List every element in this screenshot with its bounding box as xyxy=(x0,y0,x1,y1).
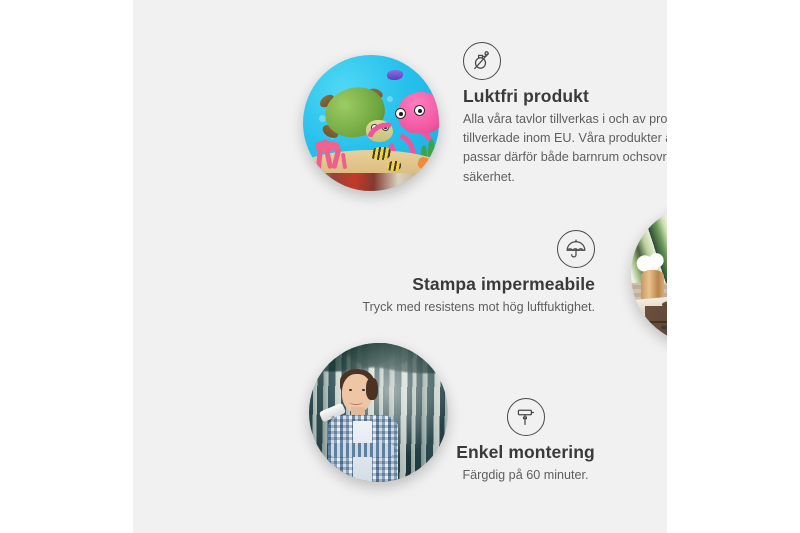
umbrella-icon xyxy=(557,230,595,268)
feature-block-odor-free: Luktfri produkt Alla våra tavlor tillver… xyxy=(463,42,667,187)
folded-arms xyxy=(328,443,395,457)
feature-block-easy-installation: Enkel montering Färgdig på 60 minuter. xyxy=(423,398,628,485)
no-odor-spray-bottle-icon xyxy=(463,42,501,80)
underwater-scene xyxy=(303,55,439,191)
coral xyxy=(315,141,339,151)
bathroom-scene xyxy=(631,205,667,344)
page-root: Luktfri produkt Alla våra tavlor tillver… xyxy=(0,0,800,533)
mural-foreground-strip xyxy=(303,173,439,191)
cabinet-seam xyxy=(645,321,667,323)
hair-side xyxy=(366,378,379,400)
feature-description: Alla våra tavlor tillverkas i och av pro… xyxy=(463,110,667,187)
feature-title: Luktfri produkt xyxy=(463,86,667,106)
eye xyxy=(362,389,365,391)
content-panel: Luktfri produkt Alla våra tavlor tillver… xyxy=(133,0,667,533)
paint-roller-icon xyxy=(507,398,545,436)
feature-description: Tryck med resistens mot hög luftfuktighe… xyxy=(313,298,595,317)
feature-title: Enkel montering xyxy=(423,442,628,462)
feature-description: Färgdig på 60 minuter. xyxy=(423,466,628,485)
feature-block-waterproof-print: Stampa impermeabile Tryck med resistens … xyxy=(313,230,595,317)
wood-vanity-cabinet xyxy=(645,306,667,344)
drawer-handle xyxy=(661,326,667,329)
bathroom-leaf-wallpaper-photo xyxy=(631,205,667,344)
feature-title: Stampa impermeabile xyxy=(313,274,595,294)
underwater-kids-mural-photo xyxy=(303,55,439,191)
